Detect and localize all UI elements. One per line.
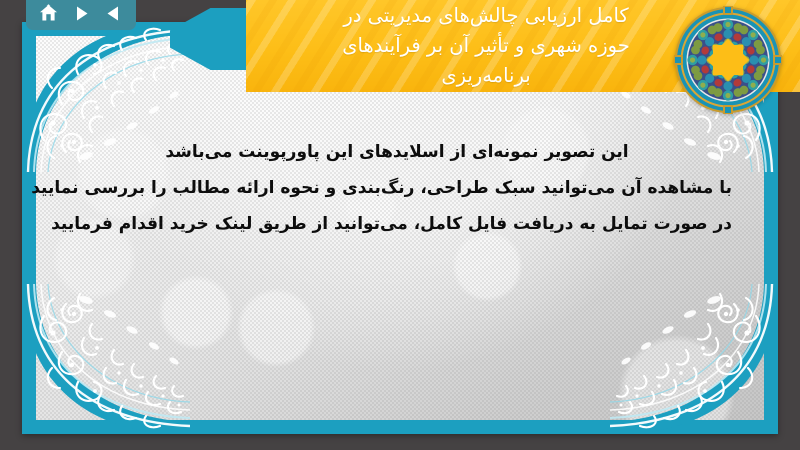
triangle-left-icon: [105, 5, 122, 22]
home-icon: [39, 4, 58, 22]
next-slide-button[interactable]: [68, 1, 94, 25]
navigation-bar: [26, 0, 136, 30]
body-line-1: این تصویر نمونه‌ای از اسلایدهای این پاور…: [62, 134, 732, 170]
title-line-3: برنامه‌ریزی: [441, 61, 530, 91]
triangle-right-icon: [73, 5, 90, 22]
persian-medallion-icon: [674, 6, 782, 114]
body-line-2: با مشاهده آن می‌توانید سبک طراحی، رنگ‌بن…: [62, 170, 732, 206]
slide-body-text: این تصویر نمونه‌ای از اسلایدهای این پاور…: [62, 134, 732, 242]
previous-slide-button[interactable]: [101, 1, 127, 25]
slide-viewer: این تصویر نمونه‌ای از اسلایدهای این پاور…: [0, 0, 800, 450]
title-line-2: حوزه شهری و تأثیر آن بر فرآیندهای: [342, 31, 630, 61]
home-button[interactable]: [35, 1, 61, 25]
title-line-1: کامل ارزیابی چالش‌های مدیریتی در: [343, 1, 628, 31]
body-line-3: در صورت تمایل به دریافت فایل کامل، می‌تو…: [62, 206, 732, 242]
